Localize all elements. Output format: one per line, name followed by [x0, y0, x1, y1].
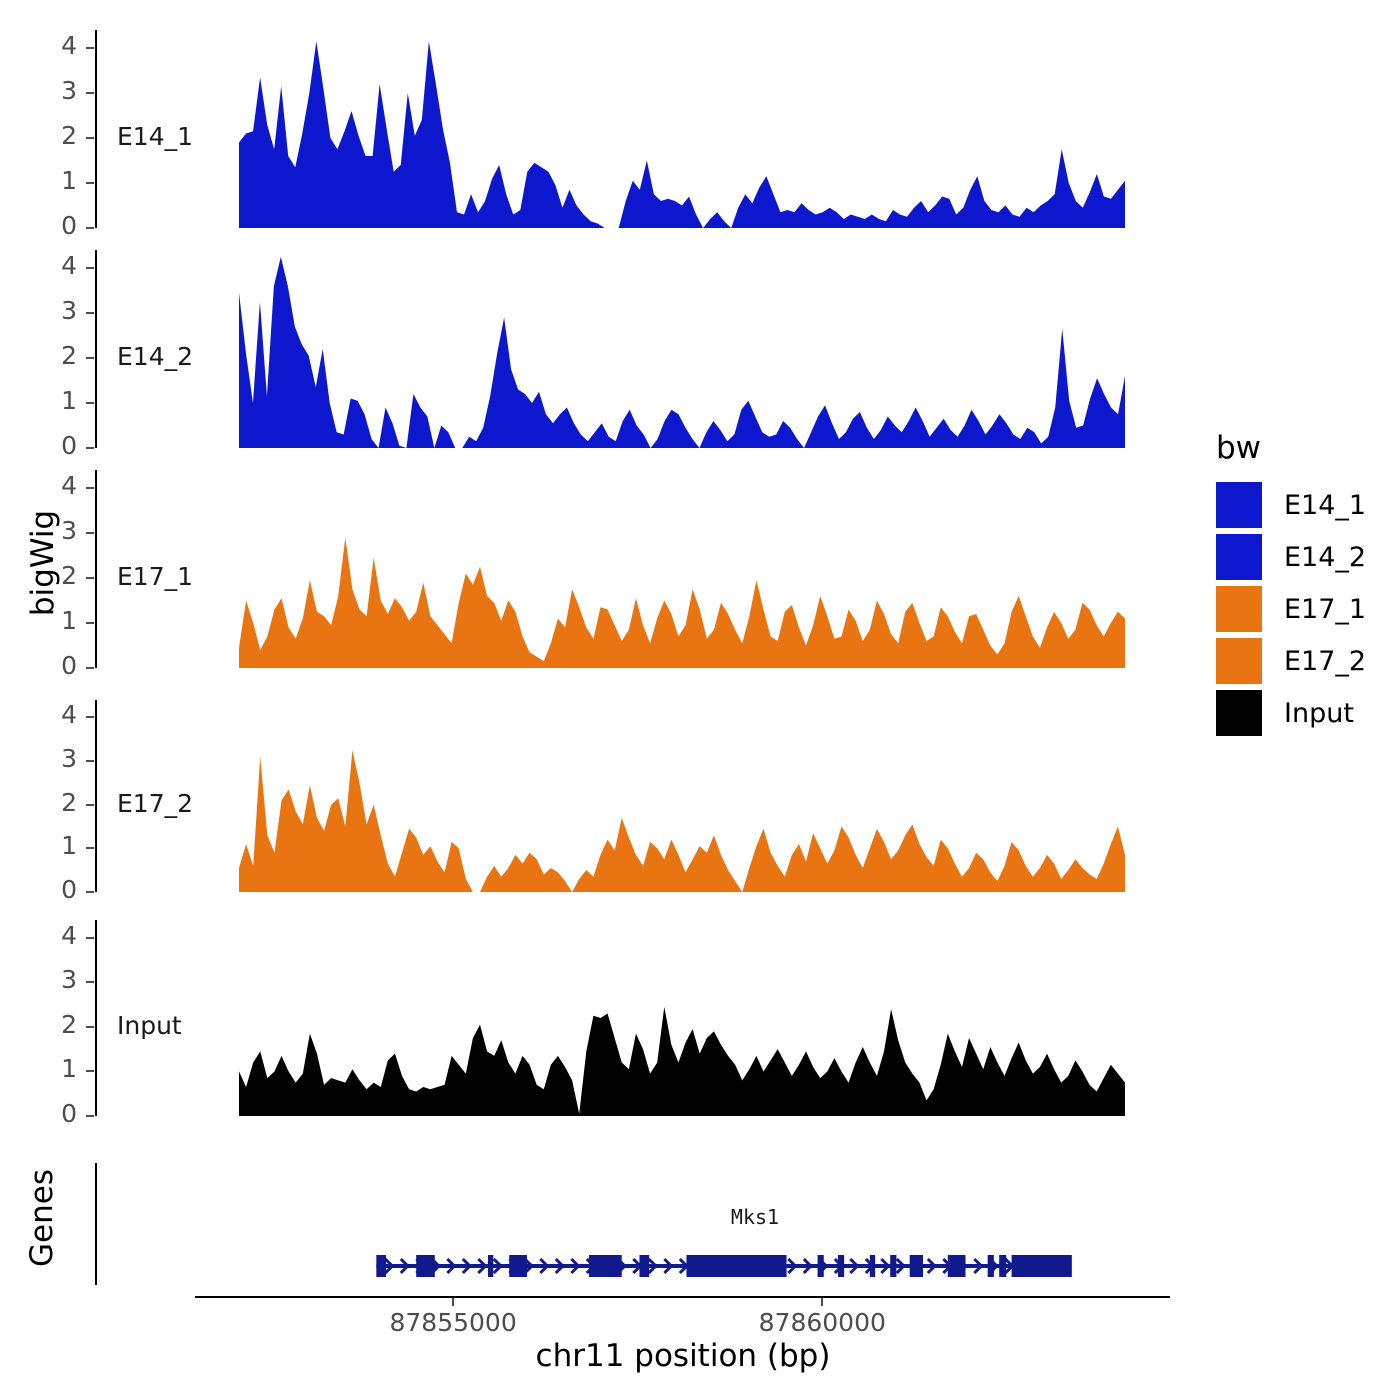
y-tick-label: 1 [37, 388, 77, 413]
coverage-area-e17_2 [239, 700, 1125, 892]
x-tick-label: 87855000 [353, 1308, 553, 1337]
legend-swatch [1216, 690, 1262, 736]
y-tick-label: 3 [37, 78, 77, 103]
y-tick-mark [86, 312, 94, 314]
legend-swatch [1216, 638, 1262, 684]
y-tick-label: 0 [37, 433, 77, 458]
genes-axis-line [95, 1163, 97, 1285]
gene-exon [890, 1255, 896, 1277]
y-tick-mark [86, 937, 94, 939]
y-tick-label: 2 [37, 343, 77, 368]
y-tick-mark [86, 1026, 94, 1028]
gene-name-label: Mks1 [655, 1205, 855, 1229]
legend-title: bw [1216, 430, 1261, 466]
y-tick-mark [86, 804, 94, 806]
gene-exon [488, 1255, 493, 1277]
legend-label: E17_2 [1284, 646, 1366, 677]
legend-swatch [1216, 482, 1262, 528]
y-tick-mark [86, 760, 94, 762]
y-tick-label: 3 [37, 967, 77, 992]
coverage-polygon [239, 41, 1125, 228]
legend-swatch [1216, 534, 1262, 580]
coverage-polygon [239, 750, 1125, 892]
y-tick-label: 2 [37, 563, 77, 588]
y-tick-label: 0 [37, 877, 77, 902]
legend-label: E17_1 [1284, 594, 1366, 625]
y-tick-mark [86, 622, 94, 624]
y-tick-mark [86, 47, 94, 49]
y-tick-label: 1 [37, 1056, 77, 1081]
y-tick-mark [86, 1070, 94, 1072]
panel-axis-line [95, 920, 97, 1116]
y-axis-title-genes: Genes [24, 1138, 60, 1298]
legend-label: Input [1284, 698, 1354, 729]
y-tick-label: 4 [37, 33, 77, 58]
legend-label: E14_2 [1284, 542, 1366, 573]
x-tick-mark [821, 1298, 823, 1306]
y-tick-mark [86, 487, 94, 489]
gene-exon [416, 1255, 435, 1277]
y-tick-label: 3 [37, 518, 77, 543]
track-label-e14_2: E14_2 [117, 342, 193, 371]
panel-axis-line [95, 250, 97, 448]
y-tick-label: 0 [37, 213, 77, 238]
gene-exon [639, 1255, 649, 1277]
y-tick-mark [86, 891, 94, 893]
gene-exon [589, 1255, 622, 1277]
gene-exon [1012, 1255, 1072, 1277]
gene-exon [509, 1255, 527, 1277]
coverage-area-e14_1 [239, 30, 1125, 228]
track-panel-e14_1: 01234E14_1 [95, 30, 1125, 228]
y-tick-mark [86, 847, 94, 849]
track-panel-e17_1: 01234E17_1 [95, 470, 1125, 668]
y-tick-mark [86, 92, 94, 94]
y-tick-mark [86, 981, 94, 983]
y-tick-label: 2 [37, 123, 77, 148]
gene-exon [948, 1255, 966, 1277]
track-panel-input: 01234Input [95, 920, 1125, 1116]
figure-root: bigWig Genes 01234E14_101234E14_201234E1… [0, 0, 1400, 1400]
y-tick-mark [86, 667, 94, 669]
coverage-polygon [239, 538, 1125, 669]
x-tick-label: 87860000 [722, 1308, 922, 1337]
x-axis-title: chr11 position (bp) [383, 1338, 983, 1374]
legend-swatch [1216, 586, 1262, 632]
y-tick-mark [86, 357, 94, 359]
track-label-e14_1: E14_1 [117, 122, 193, 151]
y-tick-label: 0 [37, 1101, 77, 1126]
track-panel-e17_2: 01234E17_2 [95, 700, 1125, 892]
y-tick-label: 4 [37, 253, 77, 278]
gene-exon [376, 1255, 386, 1277]
y-tick-label: 4 [37, 473, 77, 498]
gene-exon [910, 1255, 923, 1277]
gene-exon [818, 1255, 824, 1277]
y-tick-label: 1 [37, 833, 77, 858]
track-label-e17_1: E17_1 [117, 562, 193, 591]
y-tick-mark [86, 182, 94, 184]
y-tick-label: 3 [37, 746, 77, 771]
y-tick-mark [86, 1115, 94, 1117]
x-tick-mark [452, 1298, 454, 1306]
legend-item-e17_2[interactable]: E17_2 [1216, 638, 1366, 684]
y-tick-mark [86, 267, 94, 269]
legend-item-input[interactable]: Input [1216, 690, 1354, 736]
gene-exon [838, 1255, 844, 1277]
y-tick-label: 4 [37, 923, 77, 948]
gene-exon [686, 1255, 786, 1277]
y-tick-label: 2 [37, 1012, 77, 1037]
y-tick-mark [86, 137, 94, 139]
coverage-polygon [239, 1007, 1125, 1116]
panel-axis-line [95, 470, 97, 668]
x-axis-line [195, 1296, 1170, 1298]
track-label-input: Input [117, 1011, 182, 1040]
y-tick-label: 1 [37, 608, 77, 633]
coverage-area-e17_1 [239, 470, 1125, 668]
y-tick-mark [86, 716, 94, 718]
y-tick-label: 3 [37, 298, 77, 323]
gene-exon [999, 1255, 1006, 1277]
track-panel-e14_2: 01234E14_2 [95, 250, 1125, 448]
gene-model-track [239, 1248, 1125, 1284]
legend-item-e14_2[interactable]: E14_2 [1216, 534, 1366, 580]
legend-label: E14_1 [1284, 490, 1366, 521]
gene-exon [988, 1255, 994, 1277]
y-tick-mark [86, 577, 94, 579]
y-tick-mark [86, 227, 94, 229]
legend-item-e14_1[interactable]: E14_1 [1216, 482, 1366, 528]
y-tick-mark [86, 532, 94, 534]
y-tick-mark [86, 402, 94, 404]
panel-axis-line [95, 700, 97, 892]
coverage-polygon [239, 257, 1125, 448]
coverage-area-input [239, 920, 1125, 1116]
y-tick-label: 2 [37, 790, 77, 815]
coverage-area-e14_2 [239, 250, 1125, 448]
y-tick-mark [86, 447, 94, 449]
y-tick-label: 4 [37, 702, 77, 727]
y-tick-label: 0 [37, 653, 77, 678]
panel-axis-line [95, 30, 97, 228]
track-label-e17_2: E17_2 [117, 789, 193, 818]
legend-item-e17_1[interactable]: E17_1 [1216, 586, 1366, 632]
y-tick-label: 1 [37, 168, 77, 193]
gene-exon [870, 1255, 875, 1277]
